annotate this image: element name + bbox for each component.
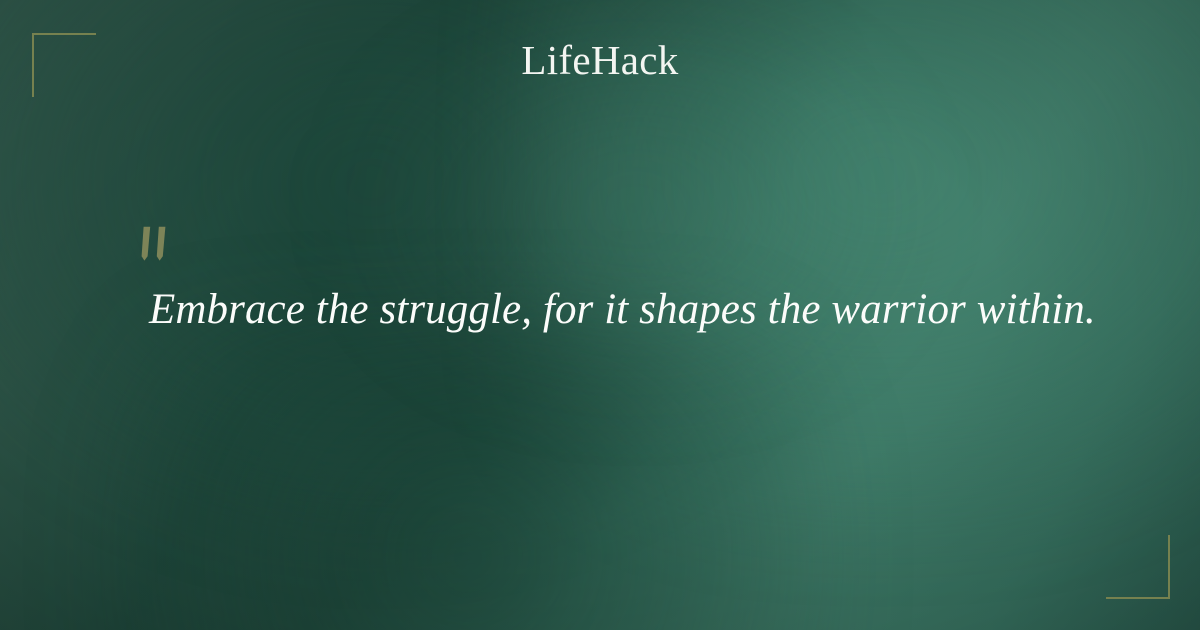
corner-bracket-bottom-right-icon: [1106, 535, 1170, 599]
quote-text: Embrace the struggle, for it shapes the …: [149, 282, 1080, 337]
brand-logo-lifehack: LifeHack: [0, 40, 1200, 81]
quote-card: LifeHack Embrace the struggle, for it sh…: [0, 0, 1200, 630]
quote-block: Embrace the struggle, for it shapes the …: [136, 226, 1080, 337]
quote-mark-icon: [138, 226, 172, 262]
